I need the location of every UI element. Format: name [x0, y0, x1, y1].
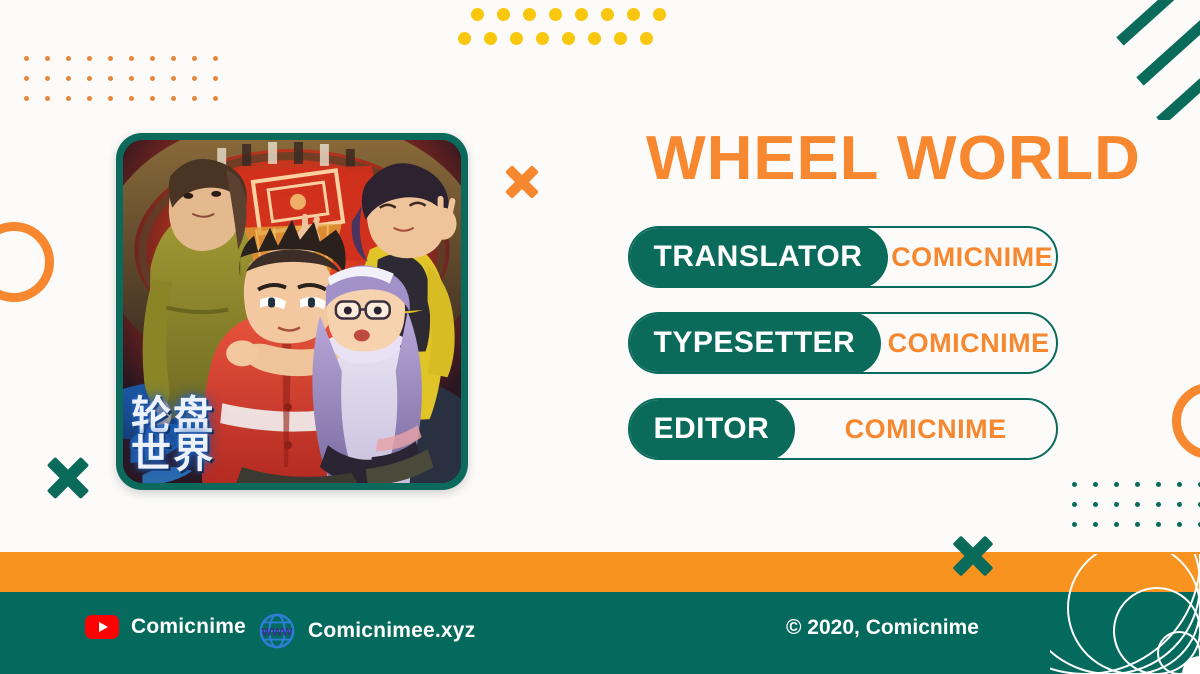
credits-column: WHEEL WORLD TRANSLATOR COMICNIME TYPESET… — [628, 128, 1058, 484]
orange-divider-bar — [0, 552, 1200, 592]
teal-dot-grid — [1072, 482, 1200, 542]
credit-name-value: COMICNIME — [795, 400, 1056, 458]
credit-row-editor[interactable]: EDITOR COMICNIME — [628, 398, 1058, 460]
website-label: Comicnimee.xyz — [308, 619, 475, 643]
teal-diagonal-stripes — [1110, 0, 1200, 120]
credit-role-label: EDITOR — [628, 398, 795, 460]
orange-dot-grid — [24, 56, 234, 116]
copyright-text: © 2020, Comicnime — [786, 616, 979, 640]
youtube-icon — [85, 615, 119, 639]
svg-text:WWW: WWW — [262, 626, 294, 638]
cover-art-frame[interactable]: 轮盘 世界 — [116, 133, 468, 490]
credit-row-translator[interactable]: TRANSLATOR COMICNIME — [628, 226, 1058, 288]
globe-www-icon: WWW — [258, 612, 296, 650]
ring-left-edge — [0, 222, 54, 302]
website-link[interactable]: WWW Comicnimee.xyz — [258, 612, 475, 650]
cross-teal-lower-left — [42, 452, 94, 504]
credits-card: 轮盘 世界 WHEEL WORLD TRANSLATOR COMICNIME T… — [0, 0, 1200, 674]
cover-chinese-title: 轮盘 世界 — [131, 397, 215, 473]
cover-chinese-line-1: 轮盘 — [131, 397, 215, 435]
cover-art-image: 轮盘 世界 — [123, 140, 461, 483]
youtube-link[interactable]: Comicnime — [85, 615, 246, 639]
yellow-dot-row-2 — [458, 32, 666, 58]
credit-name-value: COMICNIME — [888, 228, 1056, 286]
credit-role-label: TRANSLATOR — [628, 226, 888, 288]
youtube-label: Comicnime — [131, 615, 246, 639]
cross-orange-upper — [502, 162, 542, 202]
credit-name-value: COMICNIME — [881, 314, 1056, 372]
credit-row-typesetter[interactable]: TYPESETTER COMICNIME — [628, 312, 1058, 374]
yellow-dot-row-1 — [471, 8, 679, 34]
page-title: WHEEL WORLD — [646, 128, 1066, 190]
credit-role-label: TYPESETTER — [628, 312, 881, 374]
white-concentric-arcs — [1050, 554, 1200, 674]
cross-teal-bar — [948, 531, 998, 581]
ring-right-edge — [1172, 383, 1200, 459]
cover-chinese-line-2: 世界 — [131, 435, 215, 473]
